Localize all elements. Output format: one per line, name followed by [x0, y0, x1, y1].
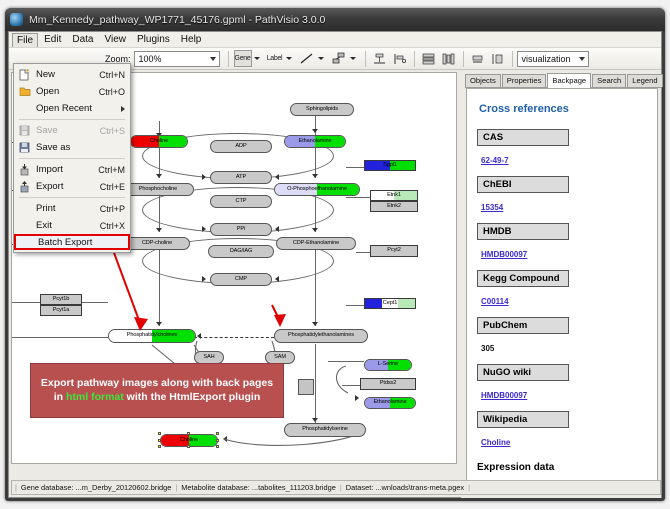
- label-tool-label: Label: [267, 55, 283, 62]
- menu-edit[interactable]: Edit: [39, 32, 66, 47]
- tab-objects[interactable]: Objects: [465, 74, 501, 87]
- xref-db-label: HMDB: [477, 223, 569, 240]
- annotation-text-after: with the HtmlExport plugin: [124, 391, 261, 403]
- menu-item-new[interactable]: New Ctrl+N: [14, 66, 130, 83]
- menu-item-print[interactable]: Print Ctrl+P: [14, 200, 130, 217]
- menu-item-export-accel: Ctrl+E: [100, 182, 130, 192]
- menu-item-open-recent[interactable]: Open Recent: [14, 100, 130, 117]
- chevron-right-icon: [121, 106, 125, 112]
- sidebar-tabs: Objects Properties Backpage Search Legen…: [465, 73, 661, 88]
- toolbar-separator-3: [414, 51, 415, 67]
- xref-entry-pubchem: PubChem 305: [477, 317, 647, 364]
- xref-entry-cas: CAS 62-49-7: [477, 129, 647, 176]
- zoom-select[interactable]: 100%: [134, 51, 220, 67]
- menu-plugins[interactable]: Plugins: [132, 32, 175, 47]
- menu-item-import-label: Import: [36, 164, 98, 175]
- common-height-tool-button[interactable]: [489, 50, 507, 67]
- xref-db-label: PubChem: [477, 317, 569, 334]
- zoom-value: 100%: [139, 54, 162, 64]
- xref-value-link[interactable]: 15354: [481, 203, 503, 212]
- menu-item-import-accel: Ctrl+M: [98, 165, 130, 175]
- menu-item-export[interactable]: Export Ctrl+E: [14, 178, 130, 195]
- stack-vertical-icon: [421, 52, 436, 66]
- distribute-icon: [441, 52, 456, 66]
- label-dropdown-arrow[interactable]: [285, 50, 294, 67]
- menu-item-open-label: Open: [36, 86, 99, 97]
- xref-value-link[interactable]: Choline: [481, 438, 510, 447]
- line-tool-button[interactable]: [298, 50, 316, 67]
- tab-legend[interactable]: Legend: [627, 74, 662, 87]
- status-gene-database: Gene database: ...m_Derby_20120602.bridg…: [17, 483, 175, 492]
- xref-entry-kegg: Kegg Compound C00114: [477, 270, 647, 317]
- status-bar: | Gene database: ...m_Derby_20120602.bri…: [11, 480, 661, 495]
- status-metabolite-database: Metabolite database: ...tabolites_111203…: [177, 483, 340, 492]
- screenshot-root: Mm_Kennedy_pathway_WP1771_45176.gpml - P…: [0, 0, 670, 509]
- stack-vertical-tool-button[interactable]: [420, 50, 438, 67]
- annotation-highlight: html format: [66, 391, 124, 403]
- label-tool-button[interactable]: Label: [266, 50, 284, 67]
- datanode-tool-button[interactable]: Gene: [234, 50, 252, 67]
- save-as-icon: [16, 140, 33, 155]
- menu-item-exit-accel: Ctrl+X: [100, 221, 130, 231]
- window-title: Mm_Kennedy_pathway_WP1771_45176.gpml - P…: [29, 14, 325, 26]
- menu-item-open[interactable]: Open Ctrl+O: [14, 83, 130, 100]
- menu-file[interactable]: File: [12, 33, 38, 47]
- right-sidebar: Objects Properties Backpage Search Legen…: [461, 72, 661, 498]
- align-left-tool-button[interactable]: [391, 50, 409, 67]
- visualization-value: visualization: [522, 54, 571, 64]
- menu-item-exit-label: Exit: [36, 220, 100, 231]
- xref-value-link[interactable]: HMDB00097: [481, 250, 527, 259]
- open-folder-icon: [16, 84, 33, 99]
- menu-item-save[interactable]: Save Ctrl+S: [14, 122, 130, 139]
- datanode-tool-label: Gene: [235, 55, 251, 62]
- common-width-tool-button[interactable]: [469, 50, 487, 67]
- menu-bar: File Edit Data View Plugins Help: [9, 32, 661, 48]
- menu-item-batch-export[interactable]: Batch Export: [14, 234, 130, 250]
- menu-item-export-label: Export: [36, 181, 100, 192]
- menu-separator: [19, 119, 125, 120]
- file-menu-dropdown[interactable]: New Ctrl+N Open Ctrl+O Open Recent: [13, 63, 131, 253]
- toolbar-separator: [228, 51, 229, 67]
- xref-entry-hmdb: HMDB HMDB00097: [477, 223, 647, 270]
- xref-db-label: Wikipedia: [477, 411, 569, 428]
- xref-db-label: NuGO wiki: [477, 364, 569, 381]
- toolbar-separator-4: [463, 51, 464, 67]
- export-icon: [16, 179, 33, 194]
- menu-item-new-label: New: [36, 69, 99, 80]
- menu-item-new-accel: Ctrl+N: [99, 70, 130, 80]
- xref-value-link[interactable]: 62-49-7: [481, 156, 509, 165]
- menu-item-save-as-label: Save as: [36, 142, 125, 153]
- annotation-callout: Export pathway images along with back pa…: [30, 363, 284, 418]
- toolbar-separator-2: [365, 51, 366, 67]
- shape-dropdown-arrow[interactable]: [349, 50, 358, 67]
- toolbar-separator-5: [512, 51, 513, 67]
- backpage-panel: Cross references CAS 62-49-7 ChEBI 15354…: [466, 88, 658, 491]
- client-area: File Edit Data View Plugins Help Zoom: 1…: [8, 31, 662, 498]
- xref-value-link[interactable]: C00114: [481, 297, 509, 306]
- shape-tool-button[interactable]: [330, 50, 348, 67]
- zoom-label: Zoom:: [105, 54, 131, 64]
- xref-db-label: Kegg Compound: [477, 270, 569, 287]
- menu-item-open-recent-label: Open Recent: [36, 103, 130, 114]
- menu-separator: [19, 197, 125, 198]
- datanode-dropdown-arrow[interactable]: [253, 50, 262, 67]
- import-icon: [16, 162, 33, 177]
- line-dropdown-arrow[interactable]: [317, 50, 326, 67]
- pathvisio-app-icon: [10, 13, 23, 26]
- status-dataset: Dataset: ...wnloads\trans-meta.pgex: [342, 483, 468, 492]
- menu-item-print-label: Print: [36, 203, 100, 214]
- visualization-select[interactable]: visualization: [517, 51, 589, 67]
- xref-value-link[interactable]: HMDB00097: [481, 391, 527, 400]
- save-disk-icon: [16, 123, 33, 138]
- xref-entry-nugo: NuGO wiki HMDB00097: [477, 364, 647, 411]
- align-left-icon: [392, 52, 407, 66]
- tab-search[interactable]: Search: [592, 74, 626, 87]
- status-divider: |: [468, 483, 470, 492]
- annotation-text: Export pathway images along with back pa…: [37, 377, 277, 403]
- xref-db-label: CAS: [477, 129, 569, 146]
- distribute-tool-button[interactable]: [440, 50, 458, 67]
- xref-db-label: ChEBI: [477, 176, 569, 193]
- menu-item-open-accel: Ctrl+O: [99, 87, 130, 97]
- line-icon: [299, 52, 314, 65]
- menu-item-save-as[interactable]: Save as: [14, 139, 130, 156]
- align-top-tool-button[interactable]: [371, 50, 389, 67]
- menu-item-print-accel: Ctrl+P: [100, 204, 130, 214]
- shape-icon: [331, 52, 346, 65]
- menu-item-import[interactable]: Import Ctrl+M: [14, 161, 130, 178]
- menu-help[interactable]: Help: [176, 32, 207, 47]
- menu-view[interactable]: View: [99, 32, 131, 47]
- application-window: Mm_Kennedy_pathway_WP1771_45176.gpml - P…: [5, 8, 665, 501]
- chevron-down-icon: [210, 57, 216, 61]
- menu-separator: [19, 158, 125, 159]
- tab-properties[interactable]: Properties: [502, 74, 547, 87]
- menu-item-save-label: Save: [36, 125, 100, 136]
- common-width-icon: [470, 52, 485, 66]
- title-bar: Mm_Kennedy_pathway_WP1771_45176.gpml - P…: [5, 8, 665, 31]
- align-top-icon: [372, 52, 387, 66]
- menu-item-batch-export-label: Batch Export: [38, 237, 128, 248]
- xref-value-text: 305: [481, 344, 494, 353]
- backpage-title: Cross references: [479, 103, 647, 115]
- menu-item-save-accel: Ctrl+S: [100, 126, 130, 136]
- xref-entry-chebi: ChEBI 15354: [477, 176, 647, 223]
- menu-item-exit[interactable]: Exit Ctrl+X: [14, 217, 130, 234]
- chevron-down-icon: [579, 57, 585, 61]
- xref-entry-wikipedia: Wikipedia Choline: [477, 411, 647, 458]
- tab-backpage[interactable]: Backpage: [547, 73, 591, 88]
- expression-data-title: Expression data: [477, 462, 647, 473]
- new-document-icon: [16, 67, 33, 82]
- common-height-icon: [490, 52, 505, 66]
- menu-data[interactable]: Data: [67, 32, 98, 47]
